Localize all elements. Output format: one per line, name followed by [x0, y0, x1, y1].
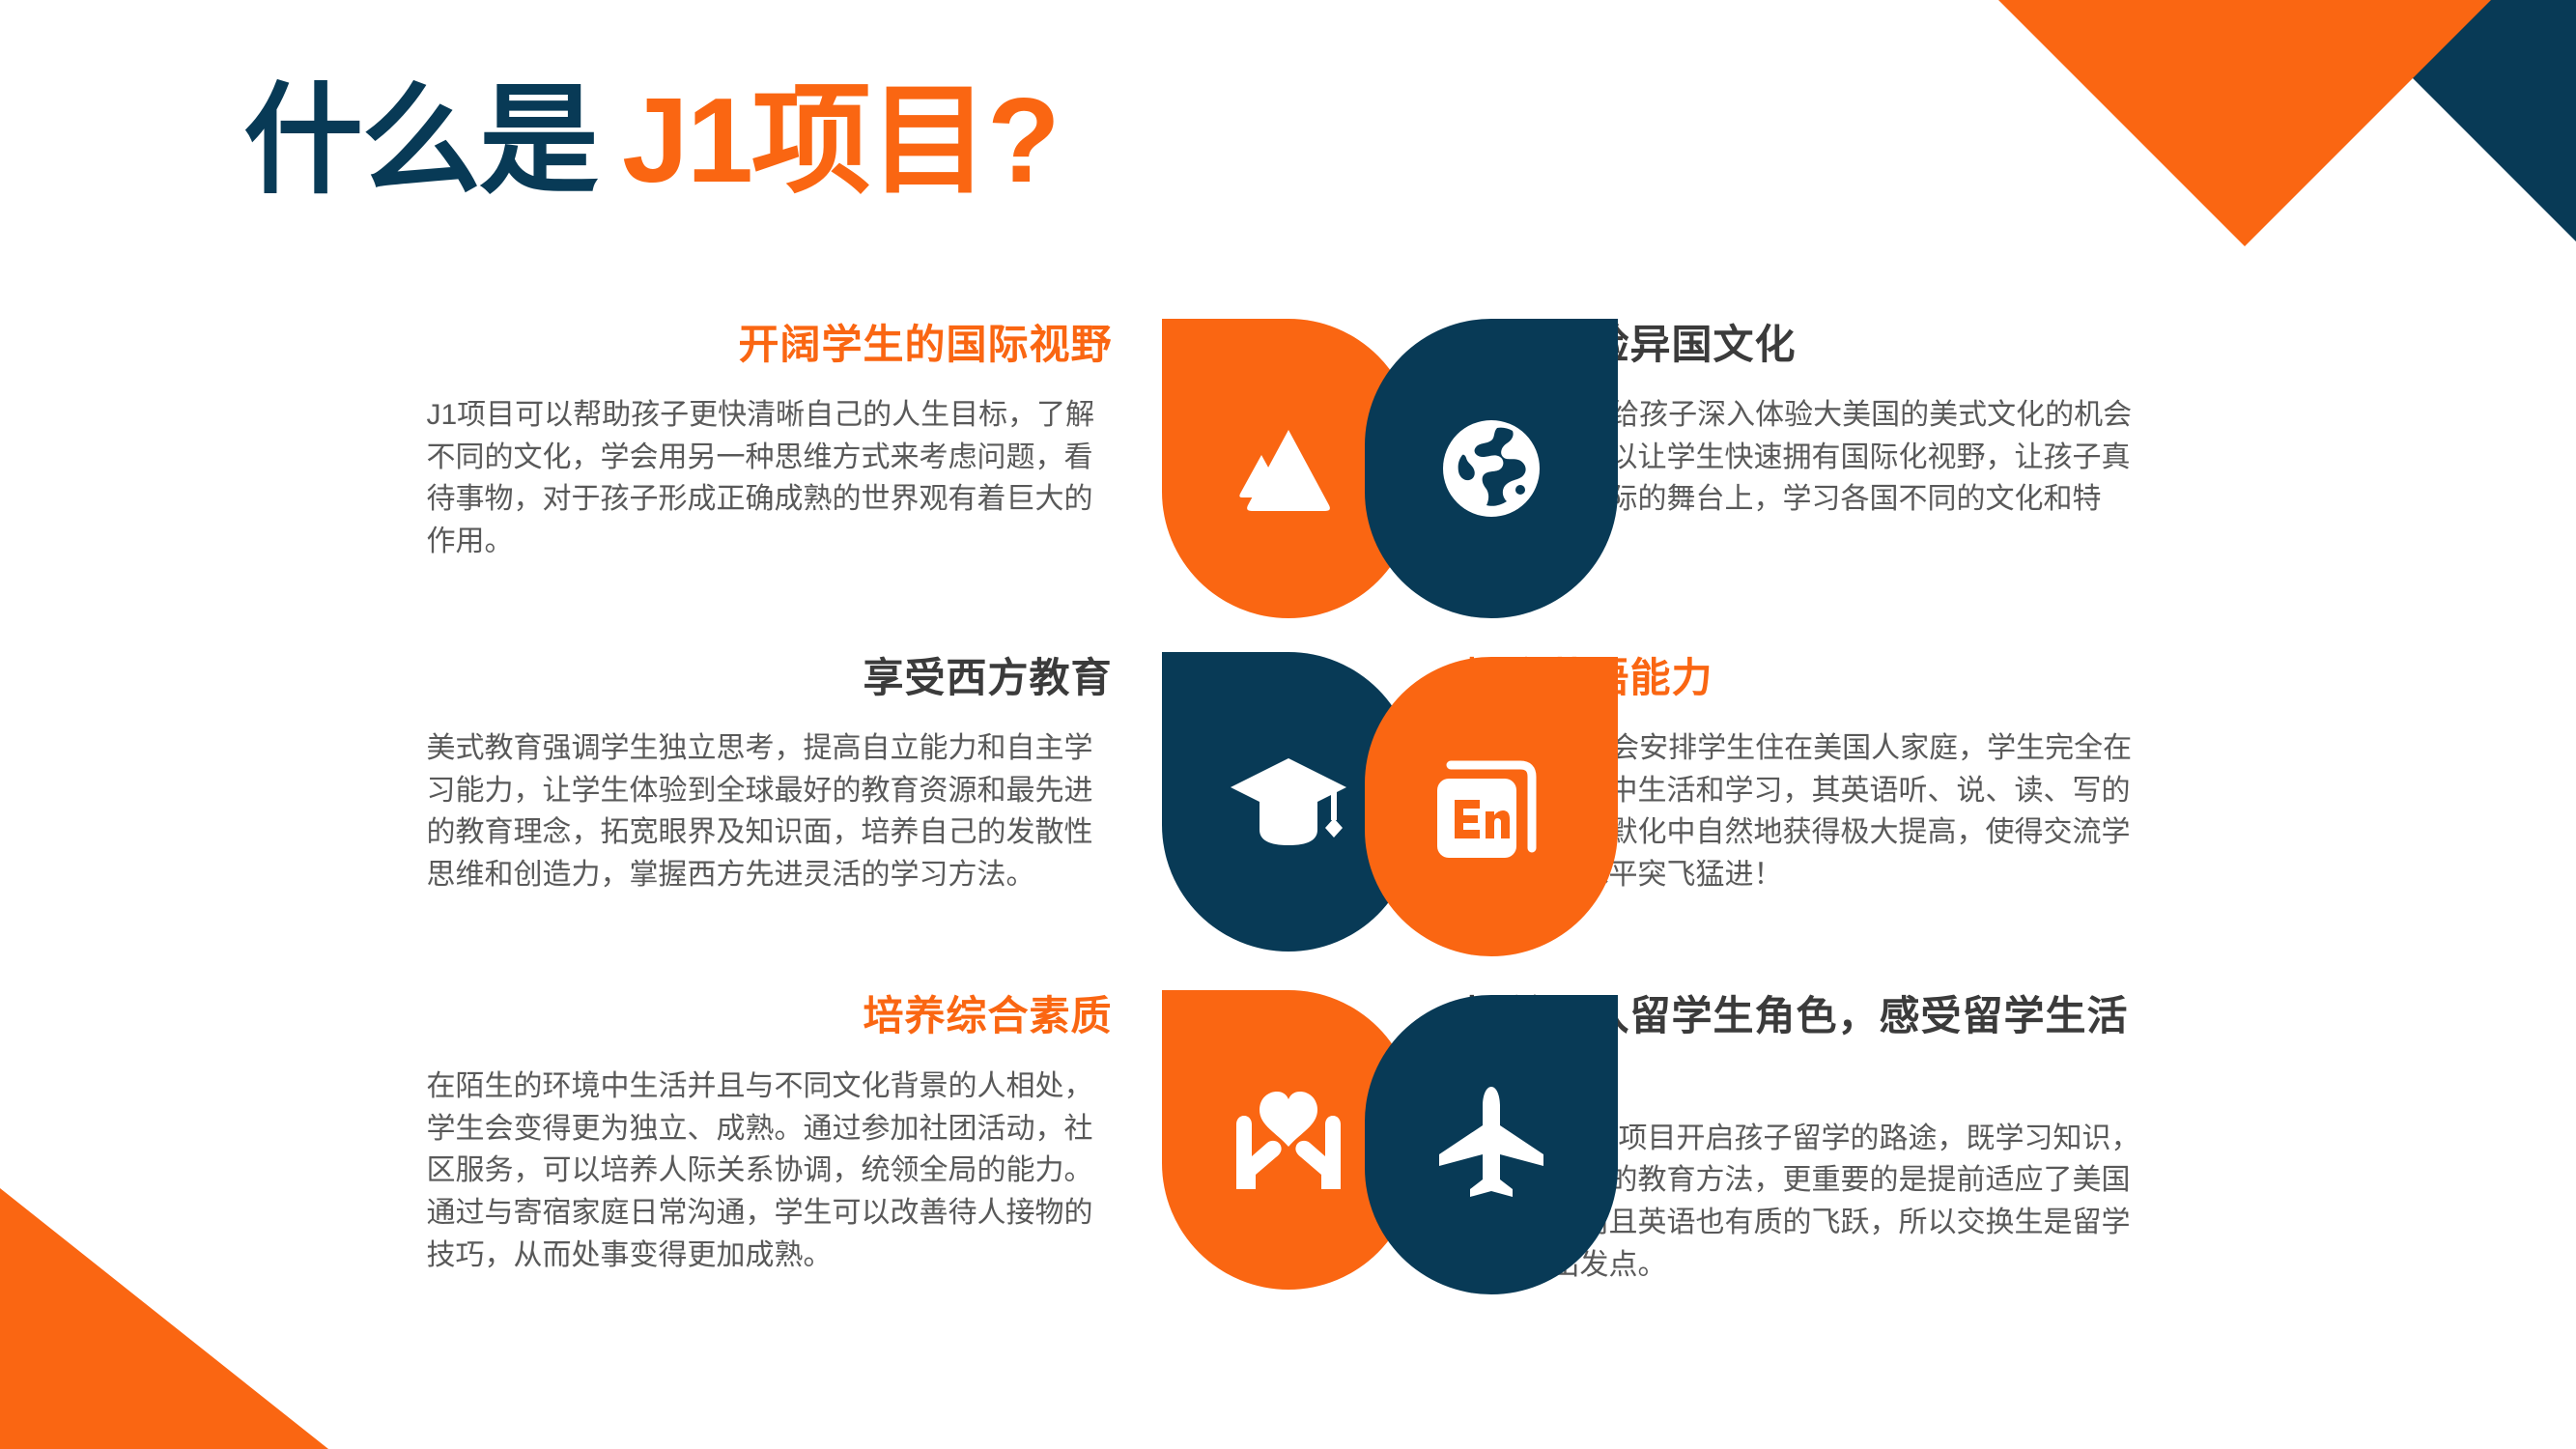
feature-heading: 培养综合素质 — [427, 990, 1113, 1042]
top-right-navy-triangle — [2335, 0, 2576, 241]
badge-english-book[interactable] — [1365, 657, 1618, 956]
badge-airplane[interactable] — [1365, 995, 1618, 1294]
feature-heading: 享受西方教育 — [427, 652, 1113, 704]
english-book-icon — [1431, 748, 1551, 866]
feature-grid: 开阔学生的国际视野 J1项目可以帮助孩子更快清晰自己的人生目标，了解不同的文化，… — [0, 319, 2576, 1328]
slide-canvas: 什么是J1项目? 开阔学生的国际视野 J1项目可以帮助孩子更快清晰自己的人生目标… — [0, 0, 2576, 1449]
page-title: 什么是J1项目? — [243, 81, 1059, 201]
top-right-orange-chevron — [1998, 0, 2491, 246]
hands-heart-icon — [1227, 1083, 1350, 1197]
badge-globe[interactable] — [1365, 319, 1618, 618]
mountains-icon — [1229, 420, 1348, 517]
feature-block-comprehensive-quality: 培养综合素质 在陌生的环境中生活并且与不同文化背景的人相处，学生会变得更为独立、… — [427, 990, 1144, 1277]
airplane-icon — [1433, 1083, 1549, 1207]
feature-body: 美式教育强调学生独立思考，提高自立能力和自主学习能力，让学生体验到全球最好的教育… — [427, 727, 1113, 896]
title-part-question: 什么是 — [243, 74, 597, 208]
feature-block-international-vision: 开阔学生的国际视野 J1项目可以帮助孩子更快清晰自己的人生目标，了解不同的文化，… — [427, 319, 1144, 563]
feature-row: 享受西方教育 美式教育强调学生独立思考，提高自立能力和自主学习能力，让学生体验到… — [0, 652, 2576, 990]
feature-block-western-education: 享受西方教育 美式教育强调学生独立思考，提高自立能力和自主学习能力，让学生体验到… — [427, 652, 1144, 896]
globe-icon — [1437, 414, 1545, 523]
feature-body: J1项目可以帮助孩子更快清晰自己的人生目标，了解不同的文化，学会用另一种思维方式… — [427, 394, 1113, 563]
title-part-program: J1项目? — [622, 74, 1059, 208]
feature-heading: 开阔学生的国际视野 — [427, 319, 1113, 371]
graduation-cap-icon — [1227, 749, 1350, 855]
feature-row: 培养综合素质 在陌生的环境中生活并且与不同文化背景的人相处，学生会变得更为独立、… — [0, 990, 2576, 1328]
feature-body: 在陌生的环境中生活并且与不同文化背景的人相处，学生会变得更为独立、成熟。通过参加… — [427, 1065, 1113, 1277]
feature-row: 开阔学生的国际视野 J1项目可以帮助孩子更快清晰自己的人生目标，了解不同的文化，… — [0, 319, 2576, 652]
